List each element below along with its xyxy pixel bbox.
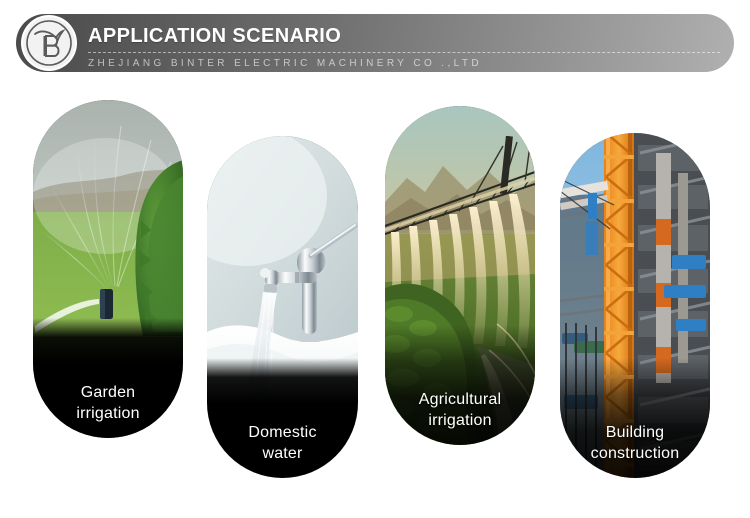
scenario-card-label: Garden irrigation — [33, 382, 183, 424]
scenario-card-domestic-water[interactable]: Domestic water — [207, 136, 358, 478]
scenario-card-label-line2: construction — [570, 443, 700, 464]
scenario-card-label-line1: Domestic — [248, 424, 316, 441]
scenario-card-label-line2: irrigation — [43, 403, 173, 424]
scenario-card-agricultural-irrigation[interactable]: Agricultural irrigation — [385, 106, 535, 445]
scenario-card-label-line2: water — [217, 443, 348, 464]
scenario-card-label: Agricultural irrigation — [385, 389, 535, 431]
scenario-card-building-construction[interactable]: Building construction — [560, 133, 710, 478]
scenario-card-garden-irrigation[interactable]: Garden irrigation — [33, 100, 183, 438]
scenario-card-list: Garden irrigation — [0, 0, 750, 518]
scenario-card-label-line1: Agricultural — [419, 391, 501, 408]
scenario-card-label: Building construction — [560, 422, 710, 464]
scenario-card-label-line1: Building — [606, 424, 665, 441]
scenario-card-label: Domestic water — [207, 422, 358, 464]
scenario-card-label-line1: Garden — [81, 384, 136, 401]
scenario-card-label-line2: irrigation — [395, 410, 525, 431]
